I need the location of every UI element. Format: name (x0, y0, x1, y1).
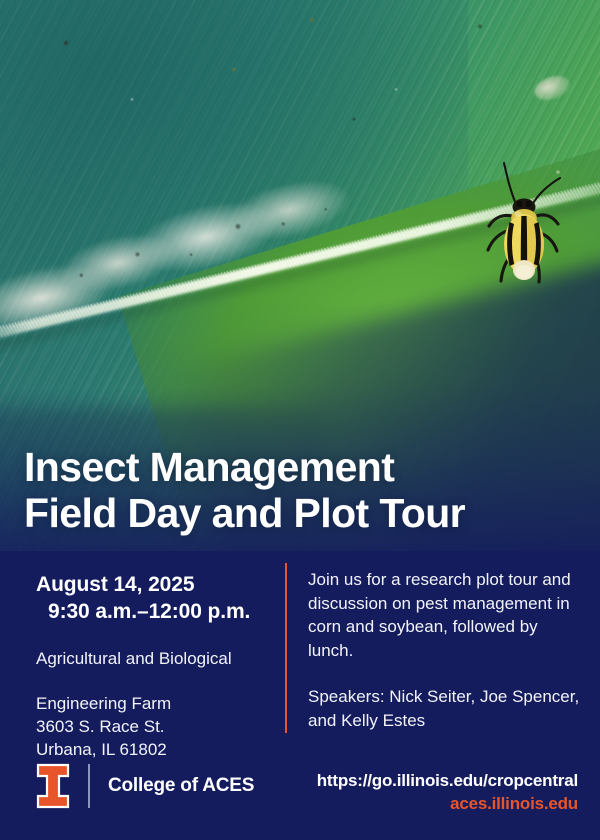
event-poster: Insect Management Field Day and Plot Tou… (0, 0, 600, 840)
logo-divider (88, 764, 90, 808)
beetle-illustration (480, 160, 566, 292)
footer-urls: https://go.illinois.edu/cropcentral aces… (317, 769, 578, 815)
info-panel: August 14, 2025 9:30 a.m.–12:00 p.m. Agr… (0, 551, 600, 840)
vertical-divider (285, 563, 287, 733)
college-name: College of ACES (108, 775, 254, 797)
page-title: Insect Management Field Day and Plot Tou… (24, 444, 580, 536)
illinois-block-i-icon (36, 763, 70, 809)
college-url[interactable]: aces.illinois.edu (317, 792, 578, 815)
event-url[interactable]: https://go.illinois.edu/cropcentral (317, 769, 578, 792)
event-date: August 14, 2025 (36, 571, 274, 598)
event-time: 9:30 a.m.–12:00 p.m. (36, 598, 274, 625)
event-description: Join us for a research plot tour and dis… (308, 568, 580, 732)
brand-lockup: College of ACES (36, 763, 254, 809)
venue-name-line-1: Agricultural and Biological (36, 647, 274, 670)
venue-street: 3603 S. Race St. (36, 715, 274, 738)
title-line-1: Insect Management (24, 444, 580, 490)
title-line-2: Field Day and Plot Tour (24, 490, 580, 536)
venue-name-line-2: Engineering Farm (36, 692, 274, 715)
poster-footer: College of ACES https://go.illinois.edu/… (0, 755, 600, 840)
event-details: August 14, 2025 9:30 a.m.–12:00 p.m. Agr… (36, 571, 274, 761)
description-blurb: Join us for a research plot tour and dis… (308, 568, 580, 662)
speakers-list: Speakers: Nick Seiter, Joe Spencer, and … (308, 685, 580, 732)
